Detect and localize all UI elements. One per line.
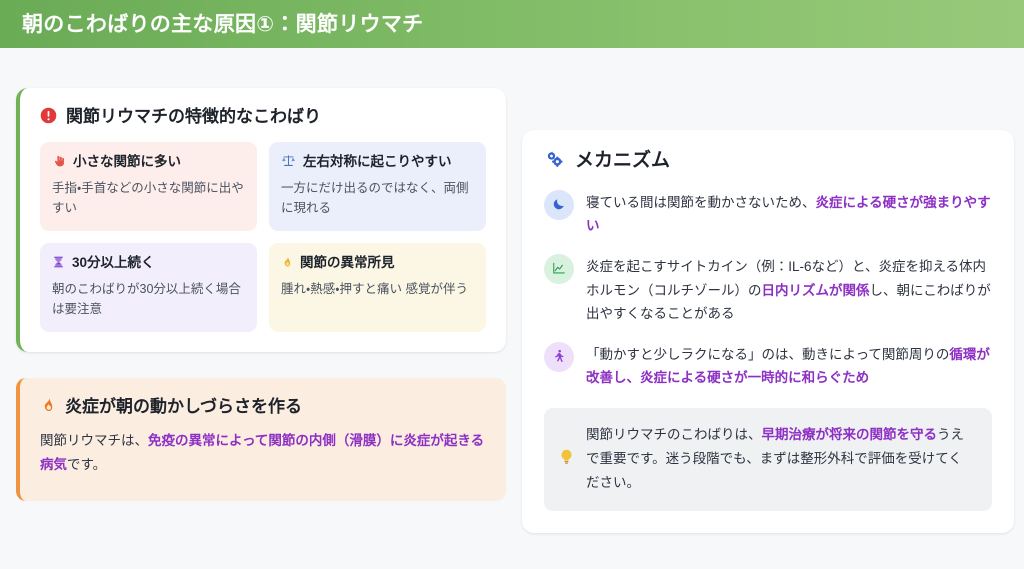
feature-title: 小さな関節に多い <box>73 153 181 171</box>
mechanism-item-movement: 「動かすと少しラクになる」のは、動きによって関節周りの循環が改善し、炎症による硬… <box>544 341 992 389</box>
inflammation-body-lead: 関節リウマチは、 <box>40 433 148 448</box>
mechanism-text: 寝ている間は関節を動かさないため、炎症による硬さが強まりやすい <box>586 189 992 237</box>
advice-note-box: 関節リウマチのこわばりは、早期治療が将来の関節を守るうえで重要です。迷う段階でも… <box>544 408 992 511</box>
chart-line-icon <box>552 261 566 277</box>
feature-title: 30分以上続く <box>72 254 155 272</box>
inflammation-card: 炎症が朝の動かしづらさを作る 関節リウマチは、免疫の異常によって関節の内側（滑膜… <box>16 378 506 501</box>
feature-description: 手指・手首などの小さな関節に出やすい <box>52 178 245 219</box>
mechanism-card: メカニズム 寝ている間は関節を動かさないため、炎症による硬さが強まりやすい <box>522 130 1014 533</box>
mechanism-text-highlight: 日内リズムが関係 <box>762 283 870 298</box>
flame-icon <box>281 255 293 271</box>
mechanism-card-title-text: メカニズム <box>575 150 670 173</box>
mechanism-item-sleep: 寝ている間は関節を動かさないため、炎症による硬さが強まりやすい <box>544 189 992 237</box>
inflammation-body: 関節リウマチは、免疫の異常によって関節の内側（滑膜）に炎症が起きる病気です。 <box>40 429 486 477</box>
pointing-hand-icon <box>52 154 66 170</box>
walking-person-icon <box>552 349 566 365</box>
content-stage: 関節リウマチの特徴的なこわばり 小さな関節に多い 手指・手首などの小さな関節に出… <box>0 48 1024 533</box>
feature-grid: 小さな関節に多い 手指・手首などの小さな関節に出やすい <box>40 142 486 332</box>
feature-heading: 関節の異常所見 <box>281 254 474 272</box>
feature-title: 関節の異常所見 <box>300 254 395 272</box>
inflammation-card-title-text: 炎症が朝の動かしづらさを作る <box>65 396 302 418</box>
mechanism-bullet <box>544 342 574 372</box>
features-card: 関節リウマチの特徴的なこわばり 小さな関節に多い 手指・手首などの小さな関節に出… <box>16 88 506 352</box>
page-title: 朝のこわばりの主な原因①：関節リウマチ <box>22 14 423 35</box>
exclamation-circle-icon <box>40 107 57 128</box>
flame-icon <box>40 396 56 418</box>
inflammation-card-title: 炎症が朝の動かしづらさを作る <box>40 396 486 418</box>
feature-heading: 30分以上続く <box>52 254 245 272</box>
feature-card-duration[interactable]: 30分以上続く 朝のこわばりが30分以上続く場合は要注意 <box>40 243 257 332</box>
feature-card-small-joints[interactable]: 小さな関節に多い 手指・手首などの小さな関節に出やすい <box>40 142 257 231</box>
mechanism-card-title: メカニズム <box>544 150 992 173</box>
mechanism-item-cytokine: 炎症を起こすサイトカイン（例：IL-6など）と、炎症を抑える体内ホルモン（コルチ… <box>544 253 992 325</box>
feature-title: 左右対称に起こりやすい <box>303 153 452 171</box>
feature-heading: 小さな関節に多い <box>52 153 245 171</box>
feature-heading: 左右対称に起こりやすい <box>281 153 474 171</box>
feature-card-abnormal-findings[interactable]: 関節の異常所見 腫れ・熱感・押すと痛い 感覚が伴う <box>269 243 486 332</box>
mechanism-text: 「動かすと少しラクになる」のは、動きによって関節周りの循環が改善し、炎症による硬… <box>586 341 992 389</box>
right-column: メカニズム 寝ている間は関節を動かさないため、炎症による硬さが強まりやすい <box>522 130 1014 533</box>
left-column: 関節リウマチの特徴的なこわばり 小さな関節に多い 手指・手首などの小さな関節に出… <box>16 88 506 501</box>
features-card-title: 関節リウマチの特徴的なこわばり <box>40 106 486 128</box>
balance-scale-icon <box>281 153 296 170</box>
mechanism-text-lead: 「動かすと少しラクになる」のは、動きによって関節周りの <box>586 347 949 362</box>
mechanism-bullet <box>544 254 574 284</box>
feature-description: 朝のこわばりが30分以上続く場合は要注意 <box>52 279 245 320</box>
gears-icon <box>544 150 565 173</box>
light-bulb-icon <box>558 447 575 470</box>
page-header: 朝のこわばりの主な原因①：関節リウマチ <box>0 0 1024 48</box>
inflammation-body-tail: です。 <box>67 457 106 472</box>
advice-note-lead: 関節リウマチのこわばりは、 <box>586 427 762 442</box>
features-card-title-text: 関節リウマチの特徴的なこわばり <box>66 106 321 128</box>
mechanism-text: 炎症を起こすサイトカイン（例：IL-6など）と、炎症を抑える体内ホルモン（コルチ… <box>586 253 992 325</box>
feature-card-symmetry[interactable]: 左右対称に起こりやすい 一方にだけ出るのではなく、両側に現れる <box>269 142 486 231</box>
advice-note-text: 関節リウマチのこわばりは、早期治療が将来の関節を守るうえで重要です。迷う段階でも… <box>586 423 974 495</box>
feature-description: 腫れ・熱感・押すと痛い 感覚が伴う <box>281 279 474 299</box>
hourglass-icon <box>52 255 65 271</box>
mechanism-text-lead: 寝ている間は関節を動かさないため、 <box>586 195 816 210</box>
moon-icon <box>552 197 566 213</box>
advice-note-highlight: 早期治療が将来の関節を守る <box>762 427 938 442</box>
mechanism-bullet <box>544 190 574 220</box>
feature-description: 一方にだけ出るのではなく、両側に現れる <box>281 178 474 219</box>
